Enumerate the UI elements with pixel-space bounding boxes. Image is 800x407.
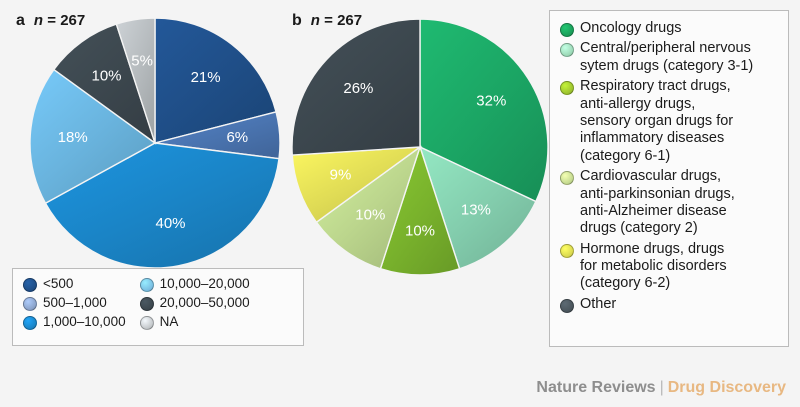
legend-item[interactable]: Central/peripheral nervous sytem drugs (… [560, 40, 778, 75]
legend-swatch-icon [23, 297, 37, 311]
pie-slice-label: 9% [330, 167, 352, 184]
pie-slice-label: 40% [155, 215, 185, 232]
pie-slice-label: 26% [343, 80, 373, 97]
legend-item-label: NA [160, 314, 179, 330]
legend-panel-b: Oncology drugsCentral/peripheral nervous… [549, 10, 789, 347]
panel-b-letter: b [292, 12, 302, 29]
legend-item[interactable]: Hormone drugs, drugs for metabolic disor… [560, 241, 778, 293]
pie-slice [45, 143, 279, 268]
figure-root: an = 267 bn = 267 21%6%40%18%10%5% 32%13… [0, 0, 800, 407]
legend-item[interactable]: 1,000–10,000 [23, 314, 126, 330]
legend-item-label: Hormone drugs, drugs for metabolic disor… [580, 241, 727, 293]
legend-swatch-icon [560, 23, 574, 37]
pie-slice-label: 32% [476, 93, 506, 110]
legend-a-columns: <500500–1,0001,000–10,00010,000–20,00020… [23, 276, 293, 330]
legend-item-label: 1,000–10,000 [43, 314, 126, 330]
pie-slice-label: 18% [58, 129, 88, 146]
legend-item-label: 20,000–50,000 [160, 295, 250, 311]
pie-slice-label: 10% [405, 222, 435, 239]
legend-b-items: Oncology drugsCentral/peripheral nervous… [560, 20, 778, 313]
legend-item[interactable]: Respiratory tract drugs, anti-allergy dr… [560, 78, 778, 165]
pie-slice-label: 5% [131, 52, 153, 69]
panel-a-label: an = 267 [16, 12, 85, 30]
legend-swatch-icon [560, 171, 574, 185]
legend-item-label: Cardiovascular drugs, anti-parkinsonian … [580, 168, 735, 238]
journal-branding: Nature Reviews|Drug Discovery [536, 379, 786, 397]
panel-a-n-equals: = [43, 12, 60, 29]
journal-section: Drug Discovery [668, 379, 786, 396]
legend-item[interactable]: Oncology drugs [560, 20, 778, 37]
legend-item-label: 500–1,000 [43, 295, 107, 311]
legend-item-label: <500 [43, 276, 73, 292]
pie-slice [420, 19, 548, 202]
panel-b-n-equals: = [320, 12, 337, 29]
legend-item-label: Central/peripheral nervous sytem drugs (… [580, 40, 753, 75]
pie-slice [30, 70, 155, 204]
legend-swatch-icon [560, 43, 574, 57]
legend-item-label: Respiratory tract drugs, anti-allergy dr… [580, 78, 733, 165]
legend-item-label: 10,000–20,000 [160, 276, 250, 292]
pie-slice [380, 147, 459, 275]
pie-slice-label: 10% [355, 206, 385, 223]
legend-item-label: Other [580, 296, 616, 313]
legend-swatch-icon [560, 244, 574, 258]
panel-b-n-value: 267 [337, 12, 362, 29]
legend-item[interactable]: Cardiovascular drugs, anti-parkinsonian … [560, 168, 778, 238]
legend-swatch-icon [23, 316, 37, 330]
branding-separator: | [660, 379, 664, 396]
pie-slice-label: 6% [226, 129, 248, 146]
panel-a-n-value: 267 [60, 12, 85, 29]
legend-panel-a: <500500–1,0001,000–10,00010,000–20,00020… [12, 268, 304, 346]
legend-swatch-icon [23, 278, 37, 292]
legend-item[interactable]: 20,000–50,000 [140, 295, 250, 311]
legend-item[interactable]: NA [140, 314, 250, 330]
legend-swatch-icon [140, 297, 154, 311]
panel-a-n-symbol: n [34, 12, 43, 29]
pie-slice [155, 112, 280, 159]
legend-swatch-icon [560, 81, 574, 95]
legend-item[interactable]: 500–1,000 [23, 295, 126, 311]
legend-swatch-icon [140, 316, 154, 330]
pie-slice [155, 18, 276, 143]
pie-slice [316, 147, 420, 269]
pie-slice-label: 10% [91, 67, 121, 84]
legend-a-column: <500500–1,0001,000–10,000 [23, 276, 126, 330]
legend-item[interactable]: Other [560, 296, 778, 313]
legend-swatch-icon [560, 299, 574, 313]
legend-item-label: Oncology drugs [580, 20, 682, 37]
pie-slice [292, 19, 420, 155]
journal-name: Nature Reviews [536, 379, 655, 396]
panel-b-label: bn = 267 [292, 12, 362, 30]
legend-item[interactable]: 10,000–20,000 [140, 276, 250, 292]
pie-slice-label: 13% [461, 201, 491, 218]
legend-a-column: 10,000–20,00020,000–50,000NA [140, 276, 250, 330]
pie-slice [116, 18, 155, 143]
pie-slice [54, 24, 155, 143]
panel-a-letter: a [16, 12, 25, 29]
legend-swatch-icon [140, 278, 154, 292]
legend-item[interactable]: <500 [23, 276, 126, 292]
panel-b-n-symbol: n [311, 12, 320, 29]
pie-slice-label: 21% [191, 69, 221, 86]
pie-slice [292, 147, 420, 222]
pie-slice [420, 147, 536, 269]
